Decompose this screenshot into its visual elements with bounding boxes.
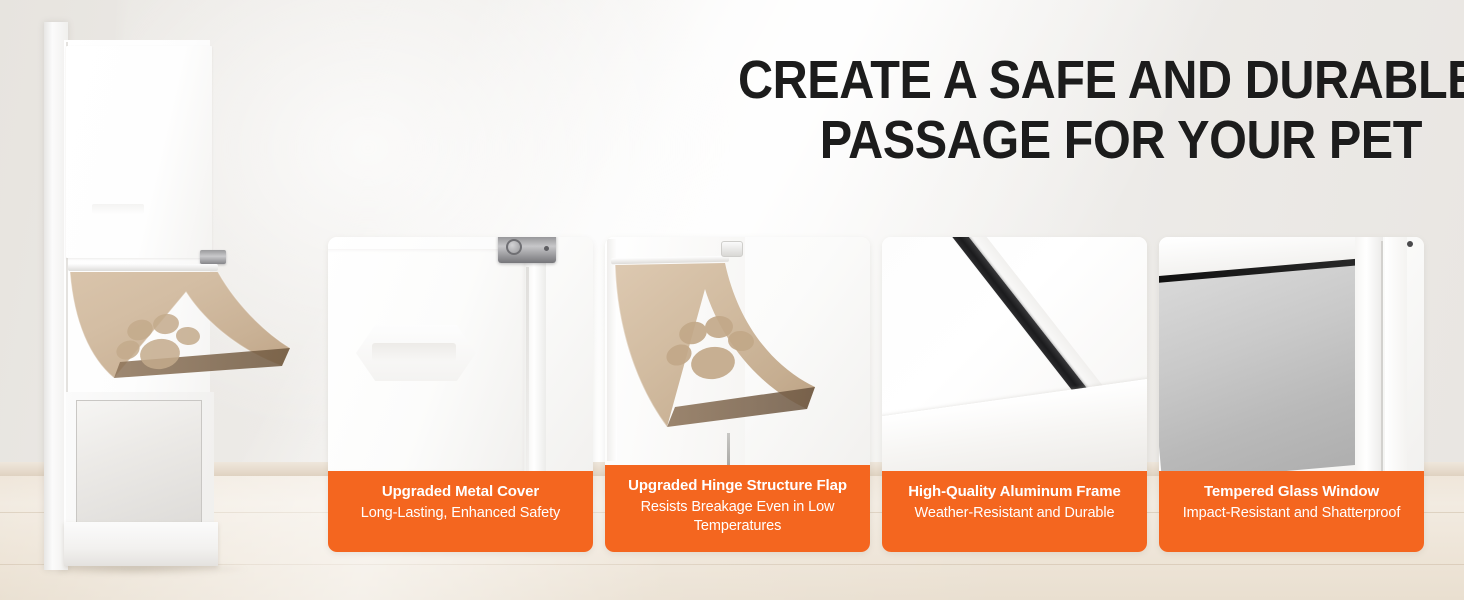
cover-emboss-logo [92,204,144,214]
tempered-glass-photo [1159,237,1424,471]
glass-right-frame [1355,237,1383,471]
cover-seam [526,267,529,471]
card-subtitle: Weather-Resistant and Durable [892,504,1137,523]
headline-line-2: PASSAGE FOR YOUR PET [738,110,1422,170]
glass-right-frame-outer [1385,237,1407,471]
feature-banner: CREATE A SAFE AND DURABLE PASSAGE FOR YO… [0,0,1464,600]
door-glass-pane [76,400,202,524]
glass-frame-seam [1381,241,1383,471]
door-flap [68,270,292,392]
feature-card-aluminum-frame[interactable]: High-Quality Aluminum Frame Weather-Resi… [882,237,1147,552]
headline-line-1: CREATE A SAFE AND DURABLE [738,50,1422,110]
page-title: CREATE A SAFE AND DURABLE PASSAGE FOR YO… [738,50,1422,170]
hinge-flap-photo [605,237,870,465]
feature-card-metal-cover[interactable]: Upgraded Metal Cover Long-Lasting, Enhan… [328,237,593,552]
latch-knob-icon [506,239,522,255]
door-metal-cover [66,46,212,258]
aluminum-frame-photo [882,237,1147,471]
cover-brand-emboss [372,343,456,361]
card-title: Upgraded Metal Cover [338,482,583,502]
latch-screw-icon [544,246,549,251]
card-caption: Upgraded Hinge Structure Flap Resists Br… [605,465,870,552]
metal-cover-photo [328,237,593,471]
glass-pane [1159,264,1373,471]
card-caption: Tempered Glass Window Impact-Resistant a… [1159,471,1424,552]
flap-hinge-block-icon [721,241,743,257]
frame-corner-screw-icon [1407,241,1413,247]
card-title: High-Quality Aluminum Frame [892,482,1137,502]
card-caption: Upgraded Metal Cover Long-Lasting, Enhan… [328,471,593,552]
card-title: Upgraded Hinge Structure Flap [615,476,860,496]
door-sill [64,522,218,566]
card-subtitle: Impact-Resistant and Shatterproof [1169,504,1414,523]
card-subtitle: Resists Breakage Even in Low Temperature… [615,498,860,536]
card-title: Tempered Glass Window [1169,482,1414,502]
feature-card-tempered-glass[interactable]: Tempered Glass Window Impact-Resistant a… [1159,237,1424,552]
door-latch [200,250,226,264]
hero-product-image [40,22,290,570]
flap-sheet [609,259,841,451]
feature-card-list: Upgraded Metal Cover Long-Lasting, Enhan… [328,237,1430,552]
frame-screws [53,142,57,272]
card-subtitle: Long-Lasting, Enhanced Safety [338,504,583,523]
card-caption: High-Quality Aluminum Frame Weather-Resi… [882,471,1147,552]
feature-card-hinge-flap[interactable]: Upgraded Hinge Structure Flap Resists Br… [605,237,870,552]
